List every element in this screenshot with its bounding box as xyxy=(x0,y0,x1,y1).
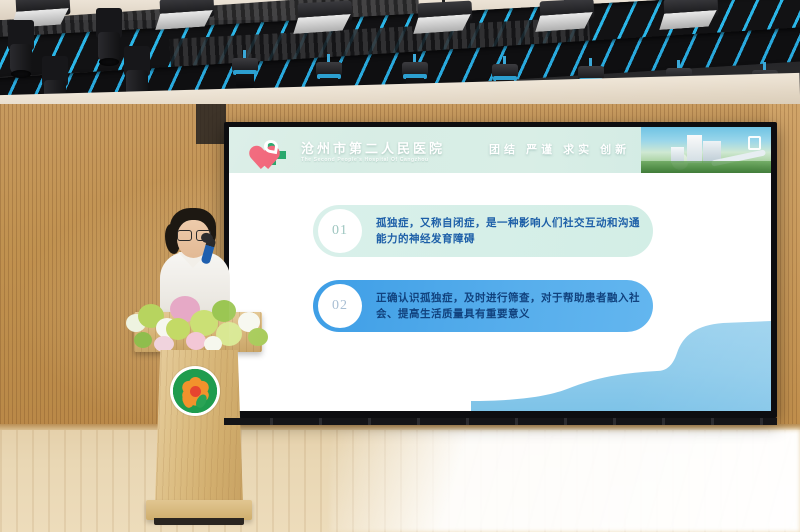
led-screen-frame: 沧州市第二人民医院 The Second People's Hospital O… xyxy=(224,122,777,418)
slide-point-01: 01 孤独症，又称自闭症，是一种影响人们社交互动和沟通能力的神经发育障碍 xyxy=(313,205,653,257)
heart-cross-logo-icon xyxy=(255,135,289,165)
hospital-flower-emblem-icon xyxy=(170,366,220,416)
hospital-name-cn: 沧州市第二人民医院 xyxy=(301,142,445,155)
hospital-logo: 沧州市第二人民医院 The Second People's Hospital O… xyxy=(255,135,445,165)
podium-base-shadow xyxy=(154,518,244,525)
stage-par-light-icon xyxy=(160,0,214,18)
point-number-badge: 02 xyxy=(318,284,362,328)
point-number-badge: 01 xyxy=(318,209,362,253)
stage-par-light-icon xyxy=(664,0,718,18)
presentation-hall-scene: 沧州市第二人民医院 The Second People's Hospital O… xyxy=(0,0,800,532)
presentation-slide: 沧州市第二人民医院 The Second People's Hospital O… xyxy=(229,127,771,411)
hospital-building-photo-icon xyxy=(641,127,771,173)
podium-and-speaker xyxy=(112,250,282,532)
ceiling-lighting-rig xyxy=(0,0,800,118)
floor-light-reflection xyxy=(330,430,800,532)
floral-arrangement-icon xyxy=(120,284,278,354)
hospital-name-en: The Second People's Hospital Of Cangzhou xyxy=(301,158,445,163)
point-text: 正确认识孤独症，及时进行筛查，对于帮助患者融入社会、提高生活质量具有重要意义 xyxy=(376,290,641,323)
stage-par-light-icon xyxy=(298,2,352,22)
hospital-slogan: 团结 严谨 求实 创新 xyxy=(489,141,630,159)
wall-dark-panel xyxy=(196,104,226,144)
led-panel-seam xyxy=(224,418,777,425)
stage-par-light-icon xyxy=(540,0,594,20)
point-text: 孤独症，又称自闭症，是一种影响人们社交互动和沟通能力的神经发育障碍 xyxy=(376,215,641,248)
blue-wave-decoration xyxy=(471,319,771,411)
stage-par-light-icon xyxy=(16,0,70,16)
podium-base xyxy=(146,500,252,520)
stage-par-light-icon xyxy=(418,2,472,22)
slide-header-bar: 沧州市第二人民医院 The Second People's Hospital O… xyxy=(229,127,771,173)
hospital-name-block: 沧州市第二人民医院 The Second People's Hospital O… xyxy=(301,142,445,165)
